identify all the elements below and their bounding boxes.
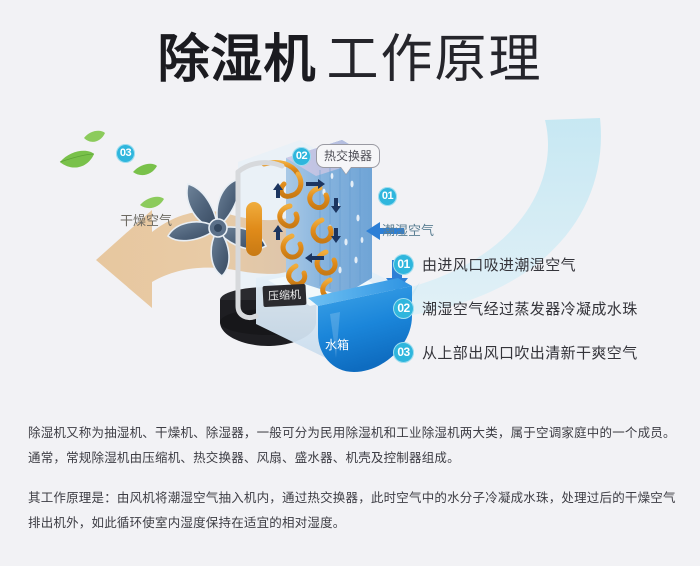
step-badge: 02 <box>393 298 414 319</box>
label-water-tank: 水箱 <box>325 336 349 353</box>
badge-dry-air: 03 <box>116 144 135 163</box>
step-badge: 03 <box>393 342 414 363</box>
label-compressor-plate: 压缩机 <box>262 284 306 307</box>
badge-heat-exchanger: 02 <box>292 147 311 166</box>
page-title: 除湿机工作原理 <box>0 30 700 90</box>
title-part-2: 工作原理 <box>327 30 543 90</box>
step-badge: 01 <box>393 254 414 275</box>
list-item: 01 由进风口吸进潮湿空气 <box>393 252 693 276</box>
steps-list: 01 由进风口吸进潮湿空气 02 潮湿空气经过蒸发器冷凝成水珠 03 从上部出风… <box>393 252 693 384</box>
paragraph-2: 其工作原理是：由风机将潮湿空气抽入机内，通过热交换器，此时空气中的水分子冷凝成水… <box>28 485 676 535</box>
step-text: 从上部出风口吹出清新干爽空气 <box>422 342 638 363</box>
callout-tail-icon <box>341 167 351 174</box>
label-heat-exchanger: 热交换器 <box>324 149 372 163</box>
badge-humid-air: 01 <box>378 187 397 206</box>
leaf-decoration <box>60 131 164 208</box>
page-root: 除湿机工作原理 <box>0 0 700 566</box>
list-item: 03 从上部出风口吹出清新干爽空气 <box>393 340 693 364</box>
step-text: 潮湿空气经过蒸发器冷凝成水珠 <box>422 298 638 319</box>
label-humid-air: 潮湿空气 <box>382 220 434 239</box>
list-item: 02 潮湿空气经过蒸发器冷凝成水珠 <box>393 296 693 320</box>
label-dry-air: 干燥空气 <box>120 210 172 229</box>
title-part-1: 除湿机 <box>157 30 316 90</box>
step-text: 由进风口吸进潮湿空气 <box>422 254 576 275</box>
paragraph-1: 除湿机又称为抽湿机、干燥机、除湿器，一般可分为民用除湿机和工业除湿机两大类，属于… <box>28 420 676 470</box>
label-compressor: 压缩机 <box>268 288 302 303</box>
description-block: 除湿机又称为抽湿机、干燥机、除湿器，一般可分为民用除湿机和工业除湿机两大类，属于… <box>28 420 676 535</box>
callout-heat-exchanger: 热交换器 <box>316 144 380 168</box>
